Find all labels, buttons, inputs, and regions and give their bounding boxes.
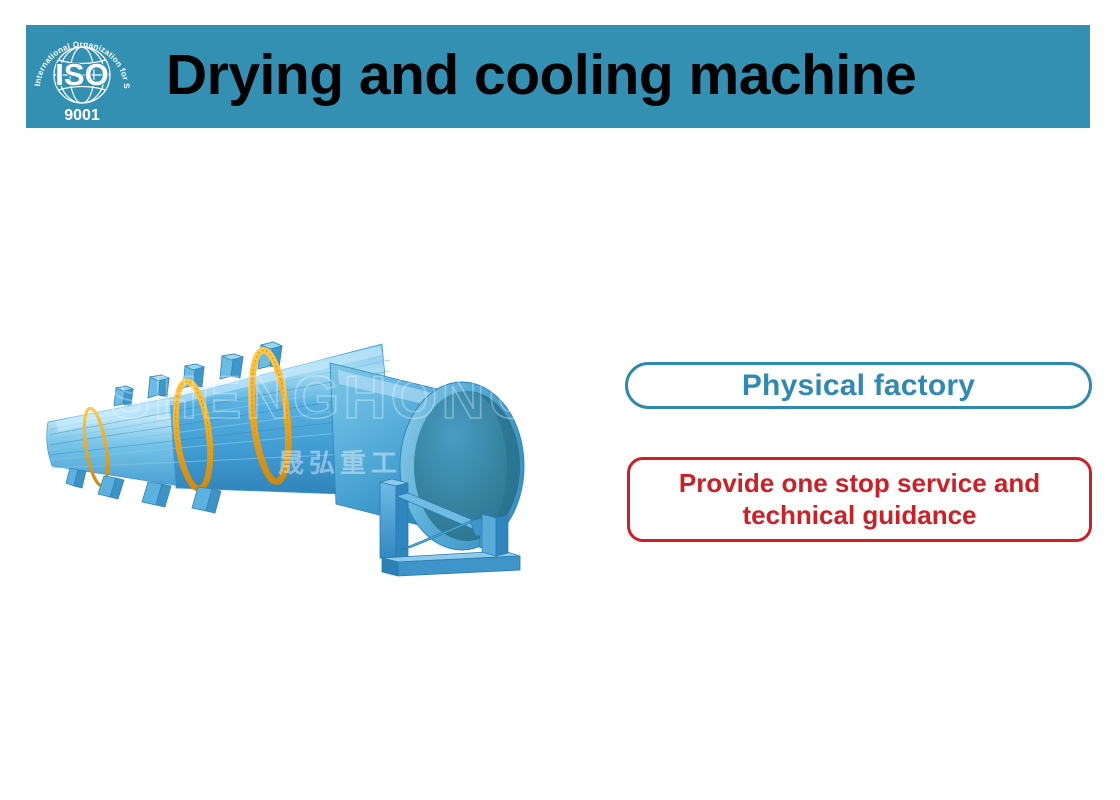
physical-factory-callout: Physical factory: [625, 362, 1092, 409]
service-label-line-1: Provide one stop service and: [679, 468, 1040, 498]
service-label: Provide one stop service and technical g…: [679, 468, 1040, 531]
photo-watermark-text-cn: 晟弘重工: [278, 449, 402, 479]
photo-watermark-text: SHENGHONG: [110, 364, 539, 431]
iso-standard-number-text: 9001: [64, 107, 100, 124]
service-callout: Provide one stop service and technical g…: [627, 457, 1092, 542]
header-banner: International Organization for Standardi…: [26, 25, 1090, 128]
iso-acronym-text: ISO: [55, 57, 108, 92]
product-photo: SHENGHONG 晟弘重工: [30, 300, 600, 610]
physical-factory-label: Physical factory: [742, 369, 975, 403]
iso-9001-badge-icon: International Organization for Standardi…: [26, 25, 138, 128]
service-label-line-2: technical guidance: [742, 500, 976, 530]
page-title: Drying and cooling machine: [138, 24, 1090, 127]
